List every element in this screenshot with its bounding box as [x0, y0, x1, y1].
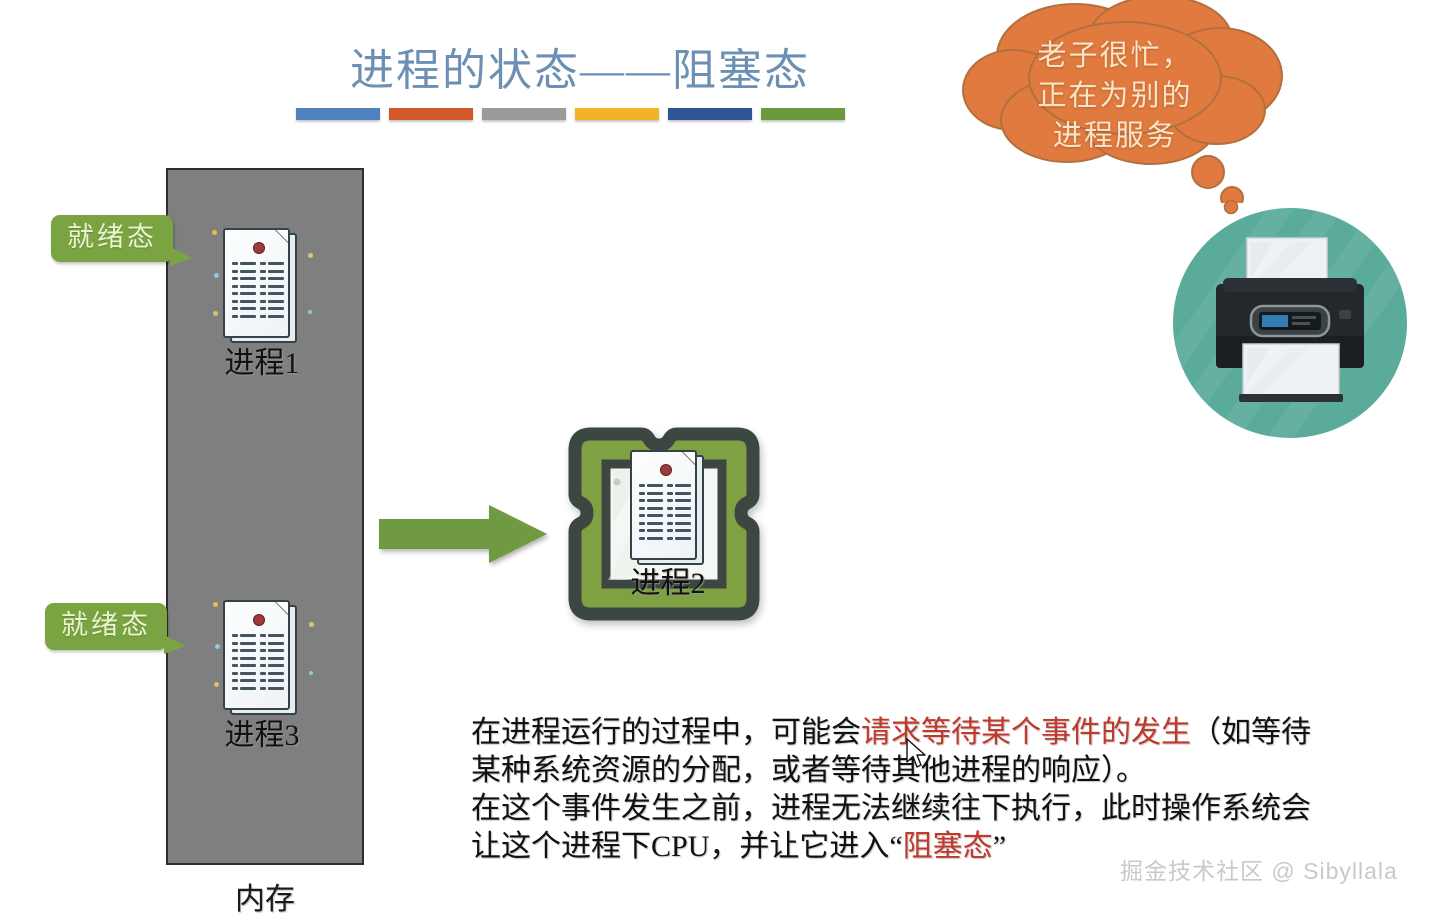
document-front-page [223, 600, 290, 710]
process-1-label: 进程1 [182, 338, 342, 382]
transition-arrow-icon [379, 505, 547, 563]
printer-device [1173, 208, 1407, 438]
document-seal-dot-icon [253, 242, 265, 254]
thought-bubble-text: 老子很忙， 正在为别的 进程服务 [1015, 36, 1215, 156]
page-fold-inner-icon [276, 230, 288, 242]
mouse-pointer-icon [906, 738, 928, 770]
document-seal-dot-icon [660, 464, 672, 476]
process-2-label: 进程2 [588, 558, 748, 602]
title-bar-6 [761, 108, 845, 120]
document-text-lines [639, 484, 693, 544]
document-seal-dot-icon [253, 614, 265, 626]
paragraph-line-2: 某种系统资源的分配，或者等待其他进程的响应）。 [471, 752, 1431, 790]
title-bar-1 [296, 108, 380, 120]
explanation-paragraph: 在进程运行的过程中，可能会请求等待某个事件的发生（如等待 某种系统资源的分配，或… [471, 714, 1431, 866]
line4-prefix: 让这个进程下CPU，并让它进入“ [471, 830, 903, 863]
paragraph-line-1: 在进程运行的过程中，可能会请求等待某个事件的发生（如等待 [471, 714, 1431, 752]
document-front-page [630, 450, 697, 560]
process-3-icon [223, 600, 297, 716]
title-accent-bars [296, 108, 844, 122]
process-3-label: 进程3 [182, 710, 342, 754]
process-2-icon [630, 450, 704, 566]
paragraph-line-3: 在这个事件发生之前，进程无法继续往下执行，此时操作系统会 [471, 790, 1431, 828]
process-1-icon [223, 228, 297, 344]
state-tag-ready-1: 就绪态 [51, 215, 173, 262]
page-fold-inner-icon [683, 452, 695, 464]
title-bar-5 [668, 108, 752, 120]
line4-suffix: ” [993, 830, 1006, 863]
thought-dot-large [1192, 156, 1224, 188]
line1-prefix: 在进程运行的过程中，可能会 [471, 716, 861, 749]
document-text-lines [232, 262, 286, 322]
state-tag-ready-2: 就绪态 [45, 603, 167, 650]
line1-suffix: （如等待 [1191, 716, 1311, 749]
line4-highlight: 阻塞态 [903, 830, 993, 863]
document-front-page [223, 228, 290, 338]
watermark-text: 掘金技术社区 @ Sibyllala [1120, 852, 1398, 886]
slide-canvas: 进程的状态——阻塞态 内存 [0, 0, 1435, 919]
title-bar-2 [389, 108, 473, 120]
document-text-lines [232, 634, 286, 694]
title-bar-3 [482, 108, 566, 120]
memory-label: 内存 [166, 874, 364, 918]
printer-icon [1173, 208, 1407, 438]
page-fold-inner-icon [276, 602, 288, 614]
title-bar-4 [575, 108, 659, 120]
